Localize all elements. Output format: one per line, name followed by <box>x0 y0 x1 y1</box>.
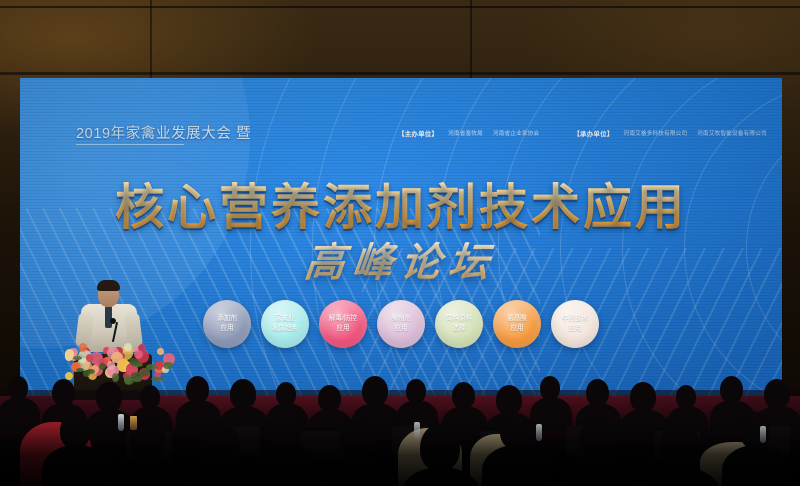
conference-photo: 2019年家禽业发展大会 暨 【主办单位】河南省畜牧局河南省企业家协会【承办单位… <box>0 0 800 486</box>
kicker-underline <box>76 144 184 145</box>
topic-label-line1: 氨基酸 <box>507 314 527 324</box>
flower-greenery <box>141 368 150 376</box>
event-kicker-text: 2019年家禽业发展大会 暨 <box>76 122 251 143</box>
topic-circle: 中药技术应用 <box>551 300 599 348</box>
wall-seam <box>0 6 800 8</box>
organizer-row: 【主办单位】河南省畜牧局河南省企业家协会【承办单位】河南艾格多科技有限公司河南艾… <box>398 128 767 138</box>
topic-label-line1: 饲料原料 <box>446 314 472 324</box>
flower-blossom <box>111 352 122 363</box>
organizer-name: 河南省畜牧局 <box>448 129 483 137</box>
flower-blossom <box>79 343 87 351</box>
flower-greenery <box>112 373 119 382</box>
topic-label-line2: 选择 <box>452 324 465 334</box>
topic-circle: 酶制剂应用 <box>377 300 425 348</box>
wall-seam <box>470 0 472 90</box>
flower-blossom <box>65 372 73 380</box>
topic-circle: 饲料原料选择 <box>435 300 483 348</box>
speaker-at-podium <box>52 282 182 400</box>
topic-circle: 氨基酸应用 <box>493 300 541 348</box>
stage-skirt-shading <box>0 396 800 448</box>
topic-label-line2: 应用 <box>394 324 407 334</box>
topic-circle: 添加剂应用 <box>203 300 251 348</box>
topic-label-line2: 应用 <box>336 324 349 334</box>
topic-label-line1: 添加剂 <box>217 314 237 324</box>
speaker-tie <box>105 306 112 328</box>
topic-label-line2: 应用 <box>568 324 581 334</box>
topic-label-line2: 应用 <box>510 324 523 334</box>
flower-greenery <box>151 377 164 381</box>
topic-label-line2: 应用 <box>220 324 233 334</box>
organizer-name: 河南艾牧智能设备有限公司 <box>697 129 767 137</box>
flower-greenery <box>163 362 173 370</box>
flower-blossom <box>157 348 163 354</box>
topic-label-line1: 家禽业 <box>275 314 295 324</box>
topic-circle: 家禽业发展趋势 <box>261 300 309 348</box>
organizer-name: 河南艾格多科技有限公司 <box>624 129 688 137</box>
floral-arrangement <box>60 340 172 382</box>
speaker-hair <box>97 280 120 291</box>
wall-seam <box>0 72 800 75</box>
sub-title: 高峰论坛 <box>20 230 782 288</box>
topic-label-line2: 发展趋势 <box>272 324 298 334</box>
topic-label-line1: 中药技术 <box>562 314 588 324</box>
main-title: 核心营养添加剂技术应用 <box>20 168 782 239</box>
organizer-name: 河南省企业家协会 <box>493 129 539 137</box>
topic-label-line1: 酶制剂 <box>391 314 411 324</box>
organizer-tag: 【主办单位】 <box>398 128 438 138</box>
flower-blossom <box>86 354 93 361</box>
topic-circle: 解毒/防控应用 <box>319 300 367 348</box>
topic-label-line1: 解毒/防控 <box>329 314 357 324</box>
organizer-tag: 【承办单位】 <box>573 128 613 138</box>
microphone-icon <box>110 318 116 324</box>
